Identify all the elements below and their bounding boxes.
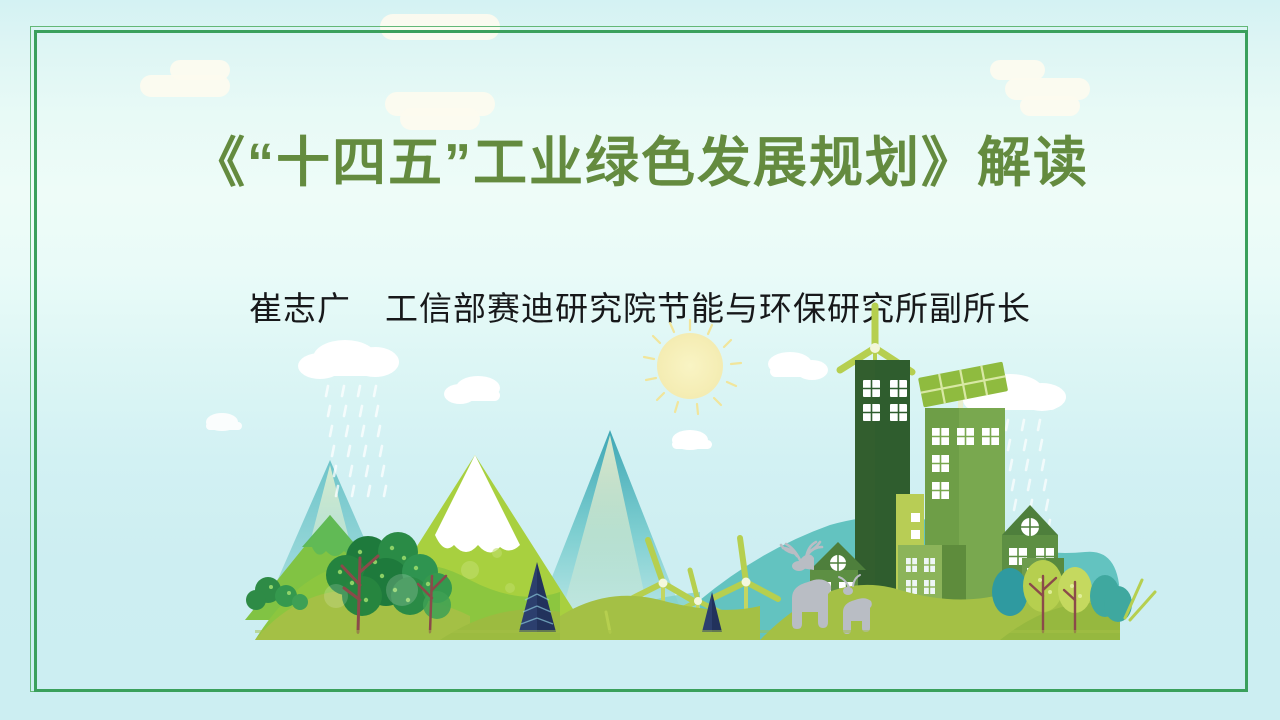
soft-cloud-shape [1020,96,1080,116]
slide-title: 《“十四五”工业绿色发展规划》解读 [0,130,1280,196]
ground-baseline [255,630,1120,633]
soft-cloud-shape [170,60,230,80]
soft-cloud-shape [990,60,1045,80]
soft-cloud-shape [400,108,480,130]
slide-canvas: 《“十四五”工业绿色发展规划》解读 崔志广 工信部赛迪研究院节能与环保研究所副所… [0,0,1280,720]
building-front-apartment-dark [942,545,966,605]
bush-right-edge [1104,586,1132,622]
soft-cloud-shape [380,14,500,40]
landscape-illustration [0,300,1280,640]
